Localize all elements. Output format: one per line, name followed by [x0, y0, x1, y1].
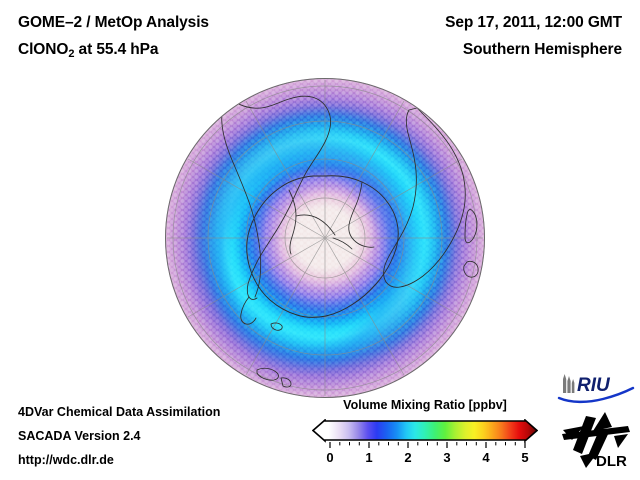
dlr-logo: DLR: [560, 410, 632, 470]
colorbar-tick-label: 0: [326, 450, 333, 465]
colorbar-tick-labels: 0 1 2 3 4 5: [312, 450, 538, 470]
url-label: http://wdc.dlr.de: [18, 453, 114, 467]
figure-canvas: GOME–2 / MetOp Analysis ClONO2 at 55.4 h…: [0, 0, 640, 480]
hemisphere-label: Southern Hemisphere: [463, 41, 622, 59]
colorbar-tick-label: 1: [365, 450, 372, 465]
colorbar: Volume Mixing Ratio [ppbv]: [300, 398, 550, 476]
dlr-wordmark: DLR: [596, 453, 627, 470]
colorbar-gradient: [312, 419, 538, 443]
grid-cell-texture-offset: [165, 78, 485, 398]
polar-map: [165, 78, 485, 398]
data-field: [165, 78, 485, 398]
colorbar-svg: [312, 419, 538, 443]
riu-towers-icon: [563, 374, 574, 393]
riu-wordmark: RIU: [577, 375, 611, 396]
version-label: SACADA Version 2.4: [18, 429, 141, 443]
species-title: ClONO2 at 55.4 hPa: [18, 41, 158, 60]
colorbar-tick-label: 3: [443, 450, 450, 465]
colorbar-tick-label: 2: [404, 450, 411, 465]
colorbar-bar: [313, 420, 537, 441]
colorbar-title: Volume Mixing Ratio [ppbv]: [300, 398, 550, 412]
assimilation-label: 4DVar Chemical Data Assimilation: [18, 405, 220, 419]
species-level: at 55.4 hPa: [74, 41, 158, 58]
colorbar-tick-label: 5: [521, 450, 528, 465]
riu-logo: RIU: [557, 371, 635, 405]
species-name: ClONO: [18, 41, 68, 58]
datetime-label: Sep 17, 2011, 12:00 GMT: [445, 14, 622, 32]
instrument-title: GOME–2 / MetOp Analysis: [18, 14, 209, 32]
colorbar-tick-label: 4: [482, 450, 489, 465]
